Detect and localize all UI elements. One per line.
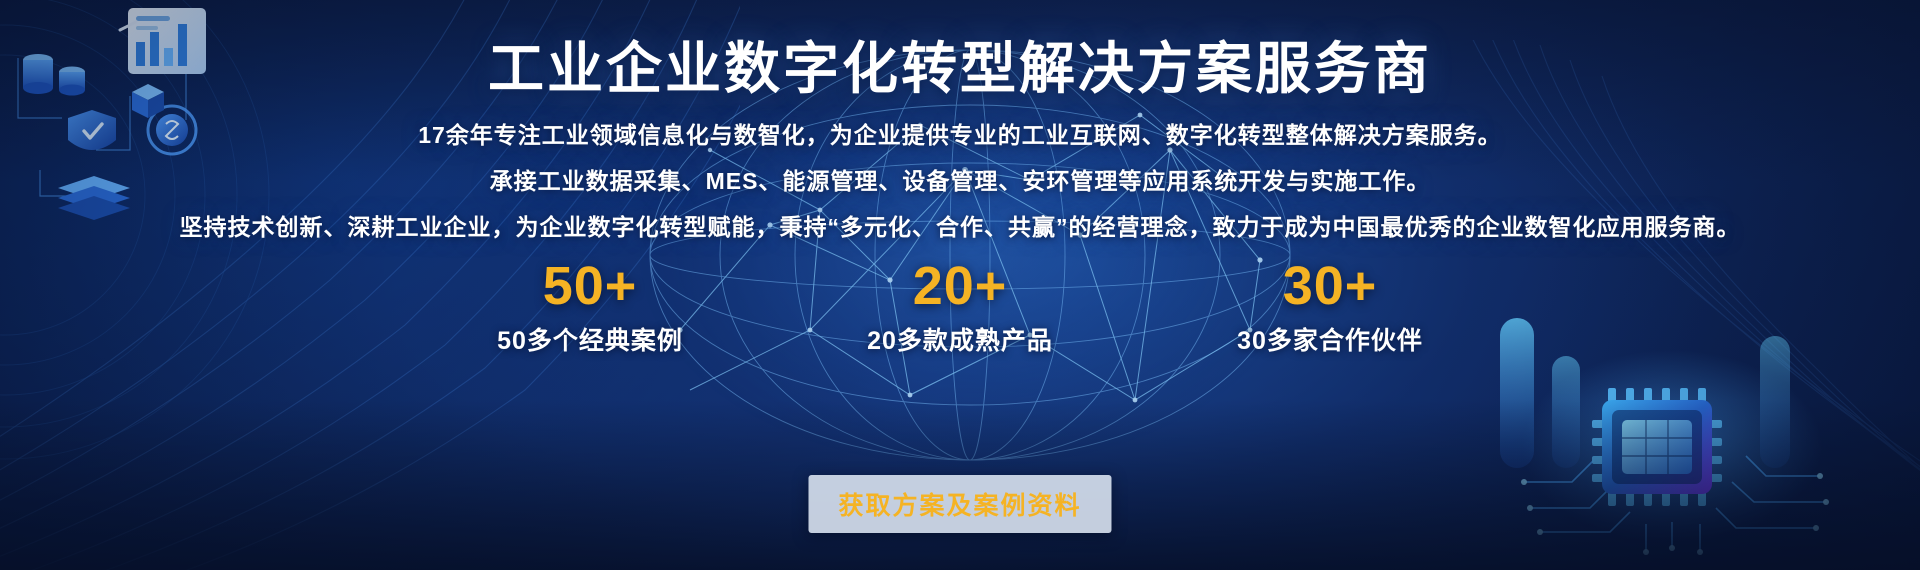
stat-number-products: 20+ xyxy=(850,258,1070,315)
description-line-2: 承接工业数据采集、MES、能源管理、设备管理、安环管理等应用系统开发与实施工作。 xyxy=(0,158,1920,204)
stats-row: 50+ 50多个经典案例 20+ 20多款成熟产品 30+ 30多家合作伙伴 xyxy=(480,258,1440,357)
stat-number-cases: 50+ xyxy=(480,258,700,315)
get-materials-button[interactable]: 获取方案及案例资料 xyxy=(808,475,1111,533)
description-line-3: 坚持技术创新、深耕工业企业，为企业数字化转型赋能，秉持“多元化、合作、共赢”的经… xyxy=(0,204,1920,250)
description-line-1: 17余年专注工业领域信息化与数智化，为企业提供专业的工业互联网、数字化转型整体解… xyxy=(0,112,1920,158)
stat-label-cases: 50多个经典案例 xyxy=(480,321,700,357)
banner-headline: 工业企业数字化转型解决方案服务商 xyxy=(0,38,1920,100)
stat-number-partners: 30+ xyxy=(1220,258,1440,315)
stat-item-cases: 50+ 50多个经典案例 xyxy=(480,258,700,357)
banner-description: 17余年专注工业领域信息化与数智化，为企业提供专业的工业互联网、数字化转型整体解… xyxy=(0,112,1920,250)
stat-label-products: 20多款成熟产品 xyxy=(850,321,1070,357)
stat-item-partners: 30+ 30多家合作伙伴 xyxy=(1220,258,1440,357)
promo-banner: 工业企业数字化转型解决方案服务商 17余年专注工业领域信息化与数智化，为企业提供… xyxy=(0,0,1920,570)
cta-container: 获取方案及案例资料 xyxy=(808,475,1111,533)
stat-label-partners: 30多家合作伙伴 xyxy=(1220,321,1440,357)
banner-content: 工业企业数字化转型解决方案服务商 17余年专注工业领域信息化与数智化，为企业提供… xyxy=(0,0,1920,570)
stat-item-products: 20+ 20多款成熟产品 xyxy=(850,258,1070,357)
